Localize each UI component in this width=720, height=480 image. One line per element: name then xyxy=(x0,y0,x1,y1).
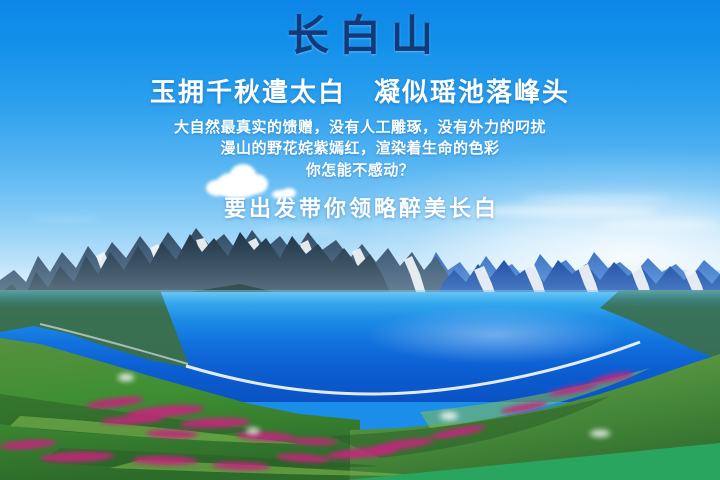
shoreline-rock xyxy=(440,412,458,420)
shoreline-rock xyxy=(246,428,260,434)
travel-poster: 长白山 玉拥千秋遣太白 凝似瑶池落峰头 大自然最真实的馈赠，没有人工雕琢，没有外… xyxy=(0,0,720,480)
poster-subtitle-3: 你怎能不感动？ xyxy=(0,160,720,181)
poster-subtitle-1: 大自然最真实的馈赠，没有人工雕琢，没有外力的叼扰 xyxy=(0,117,720,138)
shoreline-rock xyxy=(118,374,134,381)
poster-couplet: 玉拥千秋遣太白 凝似瑶池落峰头 xyxy=(0,76,720,110)
poster-subtitle-2: 漫山的野花姹紫嫣红，渲染着生命的色彩 xyxy=(0,138,720,159)
poster-tagline: 要出发带你领略醉美长白 xyxy=(0,194,720,224)
poster-title: 长白山 xyxy=(0,12,720,60)
shoreline-rock xyxy=(590,430,610,437)
